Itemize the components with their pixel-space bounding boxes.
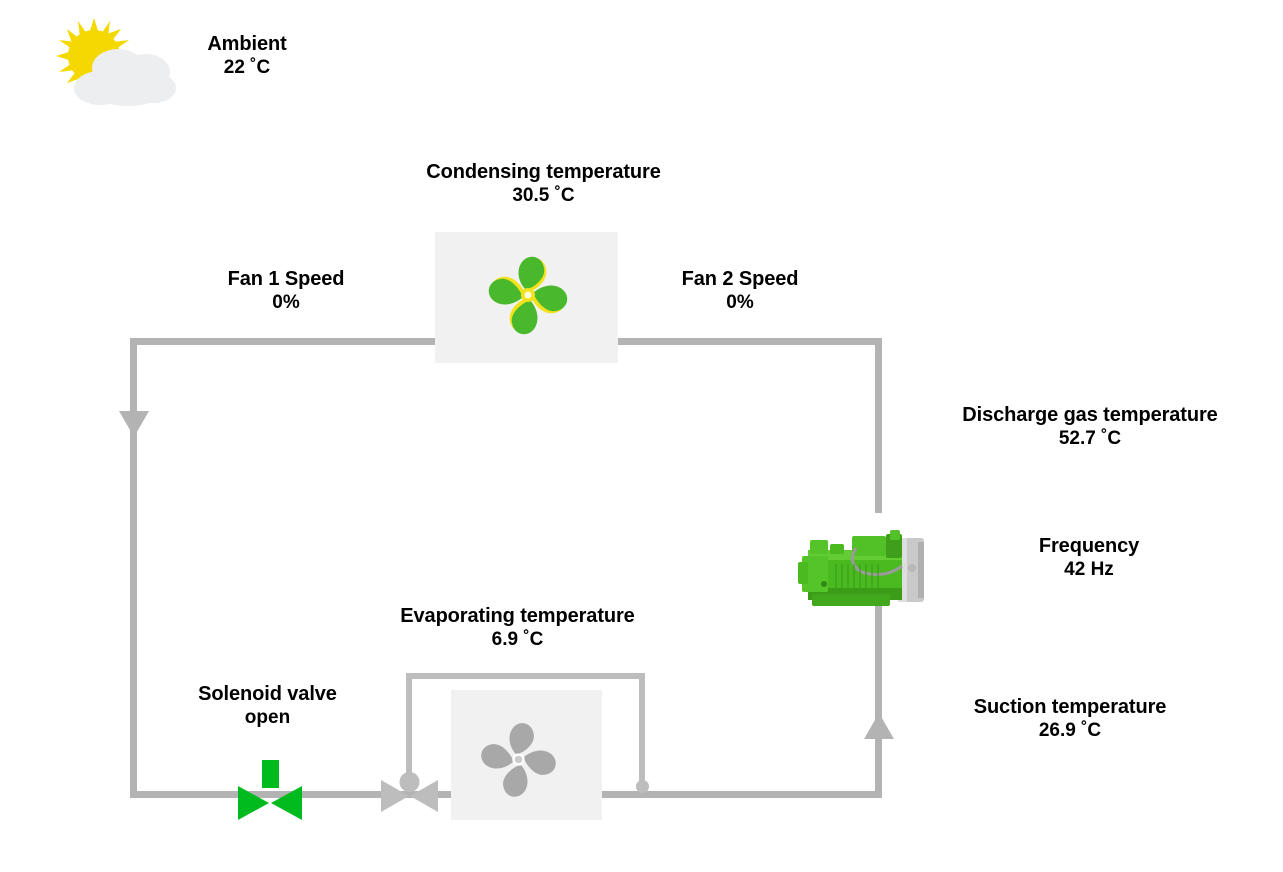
refrigeration-cycle-diagram: Ambient 22 ˚C Condensing temperature 30.…: [0, 0, 1283, 872]
sun-behind-cloud-icon: [42, 12, 192, 112]
condenser-fan-icon: [478, 245, 578, 345]
expansion-valve-icon: [379, 762, 441, 820]
fan2-speed-title: Fan 2 Speed: [650, 268, 830, 292]
evaporating-temperature-label: Evaporating temperature 6.9 ˚C: [380, 605, 655, 651]
solenoid-valve-label: Solenoid valve open: [180, 683, 355, 729]
fan2-speed-label: Fan 2 Speed 0%: [650, 268, 830, 314]
solenoid-valve-title: Solenoid valve: [180, 683, 355, 707]
compressor-icon: [790, 520, 934, 612]
condensing-temperature-title: Condensing temperature: [371, 161, 716, 185]
pipe-left-vertical: [130, 338, 137, 798]
discharge-gas-temperature-value: 52.7 ˚C: [930, 428, 1250, 450]
fan1-speed-title: Fan 1 Speed: [196, 268, 376, 292]
frequency-title: Frequency: [1000, 535, 1178, 559]
solenoid-valve-icon: [232, 760, 308, 822]
discharge-gas-temperature-title: Discharge gas temperature: [930, 404, 1250, 428]
ambient-value: 22 ˚C: [177, 57, 317, 79]
condensing-temperature-label: Condensing temperature 30.5 ˚C: [371, 161, 716, 207]
frequency-value: 42 Hz: [1000, 559, 1178, 581]
solenoid-valve-state: open: [180, 707, 355, 729]
frequency-label: Frequency 42 Hz: [1000, 535, 1178, 581]
ambient-label: Ambient 22 ˚C: [177, 33, 317, 79]
ambient-title: Ambient: [177, 33, 317, 57]
evaporator-loop-right: [639, 673, 645, 788]
fan1-speed-label: Fan 1 Speed 0%: [196, 268, 376, 314]
evaporating-temperature-title: Evaporating temperature: [380, 605, 655, 629]
flow-arrow-up-icon: [864, 713, 894, 739]
suction-temperature-value: 26.9 ˚C: [950, 720, 1190, 742]
discharge-gas-temperature-label: Discharge gas temperature 52.7 ˚C: [930, 404, 1250, 450]
evaporator-sensor-dot: [636, 780, 649, 793]
evaporator-loop-top: [406, 673, 645, 679]
fan2-speed-value: 0%: [650, 292, 830, 314]
pipe-right-discharge-vertical: [875, 338, 882, 513]
evaporating-temperature-value: 6.9 ˚C: [380, 629, 655, 651]
flow-arrow-down-icon: [119, 411, 149, 437]
condensing-temperature-value: 30.5 ˚C: [371, 185, 716, 207]
suction-temperature-label: Suction temperature 26.9 ˚C: [950, 696, 1190, 742]
fan1-speed-value: 0%: [196, 292, 376, 314]
evaporator-fan-icon: [471, 712, 566, 807]
suction-temperature-title: Suction temperature: [950, 696, 1190, 720]
